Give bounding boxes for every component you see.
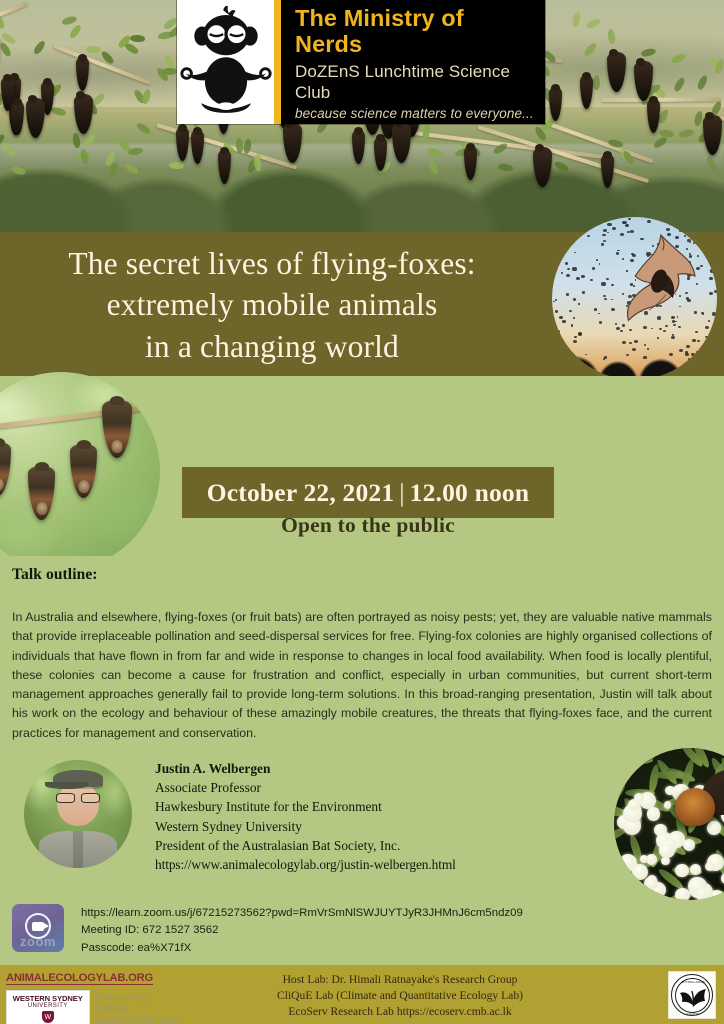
speaker-role: Associate Professor [155, 778, 575, 797]
footer-left-logos: ANIMALECOLOGYLAB.ORG WESTERN SYDNEY UNIV… [6, 968, 182, 1024]
hawkesbury-institute-label: Hawkesbury Institute for the Environment [96, 991, 183, 1024]
meditating-nerd-monkey-icon [178, 4, 274, 120]
roosting-bat [11, 101, 24, 135]
title-line-3: in a changing world [10, 326, 534, 367]
logo-subtitle: DoZEnS Lunchtime Science Club [295, 61, 535, 104]
title-line-1: The secret lives of flying-foxes: [10, 243, 534, 284]
event-date: October 22, 2021 [207, 478, 395, 507]
speaker-website-link[interactable]: https://www.animalecologylab.org/justin-… [155, 855, 575, 874]
roosting-bat [352, 130, 365, 164]
speaker-university: Western Sydney University [155, 817, 575, 836]
hanging-flying-foxes-image [0, 372, 160, 570]
abs-seal: AUSTRALASIAN SOCIETY [671, 974, 713, 1016]
zoom-meeting-id: Meeting ID: 672 1527 3562 [81, 922, 523, 939]
talk-outline-heading: Talk outline: [12, 566, 98, 584]
date-time-separator: | [399, 478, 404, 507]
palm-silhouettes [552, 338, 717, 380]
western-sydney-university-logo: WESTERN SYDNEY UNIVERSITY W [6, 990, 90, 1024]
nerd-monkey-logo [177, 0, 281, 124]
roosting-bat [392, 123, 411, 163]
zoom-wordmark: zoom [12, 934, 64, 949]
logo-title: The Ministry of Nerds [295, 5, 535, 58]
speaker-details: Justin A. Welbergen Associate Professor … [155, 759, 575, 874]
zoom-join-link[interactable]: https://learn.zoom.us/j/67215273562?pwd=… [81, 905, 523, 922]
poster: The Ministry of Nerds DoZEnS Lunchtime S… [0, 0, 724, 1024]
roosting-bat [191, 130, 204, 164]
roosting-bat [703, 115, 722, 155]
portrait-face [57, 783, 98, 826]
host-lab-line: Host Lab: Dr. Himali Ratnayake's Researc… [200, 972, 600, 988]
talk-abstract: In Australia and elsewhere, flying-foxes… [12, 608, 712, 743]
roosting-bat [218, 150, 231, 184]
roosting-bat [549, 87, 562, 121]
logo-tagline: because science matters to everyone... [295, 106, 535, 121]
wsu-shield-glyph: W [44, 1014, 51, 1021]
zoom-app-icon: zoom [12, 904, 64, 952]
audience-note: Open to the public [182, 513, 554, 538]
roosting-bat [283, 123, 302, 163]
clique-lab-line: CliQuE Lab (Climate and Quantitative Eco… [200, 988, 600, 1004]
video-camera-icon [32, 922, 44, 931]
zoom-details: zoom https://learn.zoom.us/j/67215273562… [12, 904, 572, 954]
ecoserv-lab-line[interactable]: EcoServ Research Lab https://ecoserv.cmb… [200, 1004, 600, 1020]
speaker-portrait-image [24, 760, 132, 868]
roosting-bat [176, 127, 189, 161]
roosting-bat [580, 75, 593, 109]
event-time: 12.00 noon [410, 478, 530, 507]
wsu-line-1: WESTERN SYDNEY [13, 994, 83, 1003]
ministry-of-nerds-logo-block: The Ministry of Nerds DoZEnS Lunchtime S… [177, 0, 545, 124]
portrait-shirt [39, 831, 117, 868]
speaker-institute: Hawkesbury Institute for the Environment [155, 797, 575, 816]
svg-text:SOCIETY: SOCIETY [686, 1012, 700, 1016]
abs-inner-ring [675, 978, 710, 1013]
animal-ecology-lab-link[interactable]: ANIMALECOLOGYLAB.ORG [6, 972, 153, 985]
zoom-text-lines: https://learn.zoom.us/j/67215273562?pwd=… [81, 905, 523, 957]
roosting-bat [607, 52, 626, 92]
bat-head [675, 788, 715, 826]
institute-line-1: Hawkesbury Institute [96, 991, 183, 1014]
title-line-2: extremely mobile animals [10, 284, 534, 325]
footer: ANIMALECOLOGYLAB.ORG WESTERN SYDNEY UNIV… [0, 965, 724, 1024]
roosting-bat [464, 146, 477, 180]
page-title: The secret lives of flying-foxes: extrem… [10, 243, 534, 367]
roosting-bat [26, 98, 45, 138]
roosting-bat [601, 154, 614, 188]
zoom-passcode: Passcode: ea%X71fX [81, 940, 523, 957]
roosting-bat [76, 57, 89, 91]
flying-fox-in-flight-image [552, 217, 717, 380]
institute-line-2: for the Environment [96, 1014, 183, 1024]
roosting-bat [533, 147, 552, 187]
event-datetime: October 22, 2021|12.00 noon [182, 467, 554, 518]
roosting-bat [647, 99, 660, 133]
wsu-line-2: UNIVERSITY [28, 1003, 68, 1009]
speaker-position: President of the Australasian Bat Societ… [155, 836, 575, 855]
portrait-cap [53, 770, 103, 787]
footer-host-labs: Host Lab: Dr. Himali Ratnayake's Researc… [200, 972, 600, 1021]
wsu-shield-icon: W [42, 1011, 54, 1023]
wsu-logo-row: WESTERN SYDNEY UNIVERSITY W Hawkesbury I… [6, 990, 182, 1024]
event-date-band: October 22, 2021|12.00 noon [182, 467, 554, 518]
speaker-name: Justin A. Welbergen [155, 759, 575, 778]
glasses-icon [56, 793, 99, 803]
australasian-bat-society-logo: AUSTRALASIAN SOCIETY [668, 971, 716, 1019]
